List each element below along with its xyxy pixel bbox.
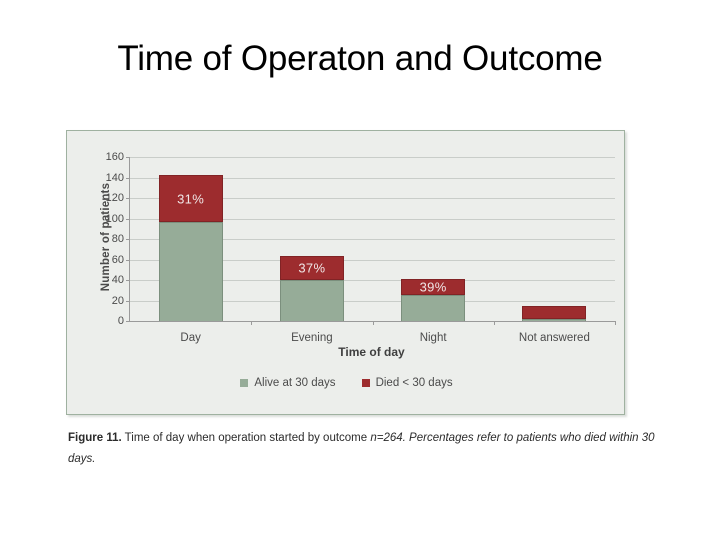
y-tick-label: 20 <box>112 295 124 307</box>
y-tick-mark <box>126 219 130 220</box>
page-title: Time of Operaton and Outcome <box>0 38 720 80</box>
bar-segment-died: 31% <box>159 175 223 221</box>
bar-segment-died <box>522 306 586 319</box>
x-axis-category-label: Evening <box>291 332 333 344</box>
x-axis-category-label: Not answered <box>519 332 590 344</box>
y-tick-mark <box>126 239 130 240</box>
y-tick-label: 40 <box>112 274 124 286</box>
chart-legend: Alive at 30 daysDied < 30 days <box>67 377 626 389</box>
x-tick-mark <box>615 321 616 325</box>
legend-swatch-icon <box>362 379 370 387</box>
y-tick-label: 0 <box>118 315 124 327</box>
y-tick-label: 120 <box>106 192 124 204</box>
bar-segment-alive <box>159 222 223 321</box>
bar-group <box>522 306 586 321</box>
x-tick-mark <box>251 321 252 325</box>
figure-caption: Figure 11. Time of day when operation st… <box>68 428 660 470</box>
bar-segment-died: 37% <box>280 256 344 280</box>
bar-segment-died: 39% <box>401 279 465 295</box>
bar-percent-label: 39% <box>402 280 464 295</box>
legend-label: Alive at 30 days <box>254 377 335 389</box>
x-axis-category-label: Day <box>180 332 200 344</box>
x-axis-title: Time of day <box>129 345 614 359</box>
y-tick-mark <box>126 280 130 281</box>
legend-swatch-icon <box>240 379 248 387</box>
bar-percent-label: 31% <box>160 191 222 206</box>
y-axis-title: Number of patients <box>100 162 112 312</box>
y-tick-mark <box>126 178 130 179</box>
x-tick-mark <box>494 321 495 325</box>
y-tick-label: 100 <box>106 213 124 225</box>
legend-label: Died < 30 days <box>376 377 453 389</box>
y-tick-label: 140 <box>106 172 124 184</box>
legend-item: Alive at 30 days <box>240 377 335 389</box>
y-tick-mark <box>126 301 130 302</box>
bar-group: 37% <box>280 256 344 321</box>
bar-group: 39% <box>401 279 465 321</box>
bar-percent-label: 37% <box>281 261 343 276</box>
bar-segment-alive <box>522 319 586 321</box>
legend-item: Died < 30 days <box>362 377 453 389</box>
y-tick-label: 60 <box>112 254 124 266</box>
caption-figure-number: Figure 11. <box>68 432 122 444</box>
chart-panel: Number of patients 020406080100120140160… <box>66 130 625 415</box>
x-tick-mark <box>373 321 374 325</box>
y-tick-mark <box>126 321 130 322</box>
bar-segment-alive <box>280 280 344 321</box>
bar-group: 31% <box>159 175 223 321</box>
y-tick-label: 160 <box>106 151 124 163</box>
y-tick-mark <box>126 198 130 199</box>
plot-area: 02040608010012014016031%Day37%Evening39%… <box>129 157 615 322</box>
x-axis-category-label: Night <box>420 332 447 344</box>
bar-segment-alive <box>401 295 465 321</box>
caption-n-value: n=264. <box>370 432 406 444</box>
y-tick-mark <box>126 260 130 261</box>
y-tick-label: 80 <box>112 233 124 245</box>
y-tick-mark <box>126 157 130 158</box>
gridline <box>130 157 615 158</box>
caption-text: Time of day when operation started by ou… <box>122 432 371 444</box>
